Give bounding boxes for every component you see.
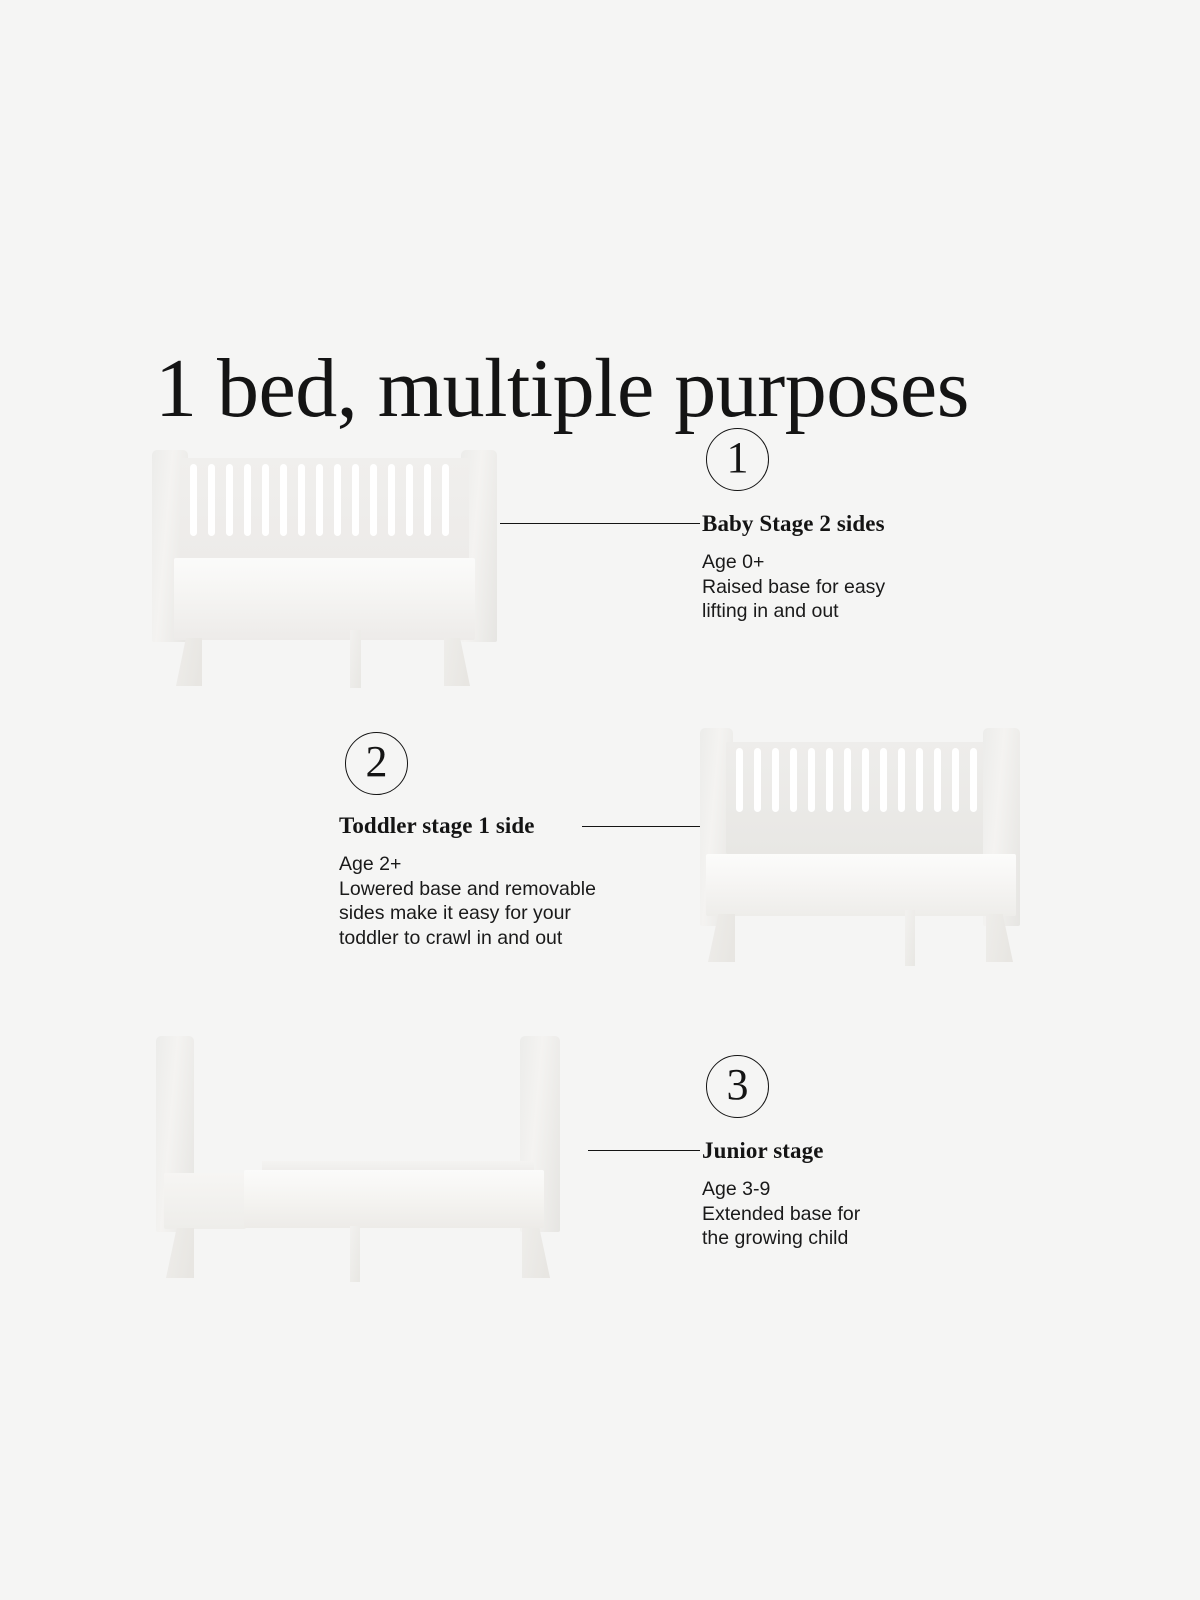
- stage-body-line: the growing child: [702, 1226, 860, 1251]
- bed-leg-center: [350, 1226, 360, 1282]
- stage-age: Age 2+: [339, 852, 596, 877]
- stage-body: Age 2+ Lowered base and removable sides …: [339, 852, 596, 950]
- stage-number: 1: [727, 436, 749, 480]
- stage-heading: Toddler stage 1 side: [339, 812, 596, 840]
- bed-slats-group: [732, 748, 988, 830]
- stage-heading: Baby Stage 2 sides: [702, 510, 885, 538]
- bed-front-rail: [244, 1170, 544, 1228]
- stage-body: Age 0+ Raised base for easy lifting in a…: [702, 550, 885, 624]
- stage-age: Age 3-9: [702, 1177, 860, 1202]
- stage-badge-1: 1: [706, 428, 769, 491]
- stage-body-line: toddler to crawl in and out: [339, 926, 596, 951]
- bed-illustration-stage-2: [700, 728, 1020, 960]
- bed-leg-right: [444, 638, 470, 686]
- stage-number: 3: [727, 1063, 749, 1107]
- bed-front-rail: [174, 558, 475, 640]
- stage-text-block-1: Baby Stage 2 sides Age 0+ Raised base fo…: [702, 510, 885, 624]
- stage-badge-3: 3: [706, 1055, 769, 1118]
- bed-front-rail: [706, 854, 1016, 916]
- connector-line-stage-3: [588, 1150, 700, 1151]
- stage-body-line: lifting in and out: [702, 599, 885, 624]
- stage-body: Age 3-9 Extended base for the growing ch…: [702, 1177, 860, 1251]
- bed-leg-left: [176, 638, 202, 686]
- bed-leg-center: [350, 630, 361, 688]
- stage-number: 2: [366, 740, 388, 784]
- stage-badge-2: 2: [345, 732, 408, 795]
- bed-leg-right: [522, 1228, 550, 1278]
- slats-svg: [732, 748, 988, 830]
- stage-text-block-3: Junior stage Age 3-9 Extended base for t…: [702, 1137, 860, 1251]
- bed-slats-group: [186, 464, 463, 558]
- stage-body-line: Lowered base and removable: [339, 877, 596, 902]
- stage-body-line: Raised base for easy: [702, 575, 885, 600]
- bed-illustration-stage-3: [152, 1030, 572, 1280]
- slats-svg: [186, 464, 463, 558]
- stage-heading: Junior stage: [702, 1137, 860, 1165]
- page-title: 1 bed, multiple purposes: [155, 341, 969, 437]
- stage-body-line: Extended base for: [702, 1202, 860, 1227]
- bed-leg-center: [905, 910, 915, 966]
- connector-line-stage-2: [582, 826, 700, 827]
- bed-illustration-stage-1: [152, 440, 497, 680]
- stage-text-block-2: Toddler stage 1 side Age 2+ Lowered base…: [339, 812, 596, 950]
- bed-extension-segment: [164, 1173, 246, 1229]
- stage-age: Age 0+: [702, 550, 885, 575]
- stage-body-line: sides make it easy for your: [339, 901, 596, 926]
- infographic-canvas: 1 bed, multiple purposes: [0, 0, 1200, 1600]
- connector-line-stage-1: [500, 523, 700, 524]
- bed-leg-left: [166, 1228, 194, 1278]
